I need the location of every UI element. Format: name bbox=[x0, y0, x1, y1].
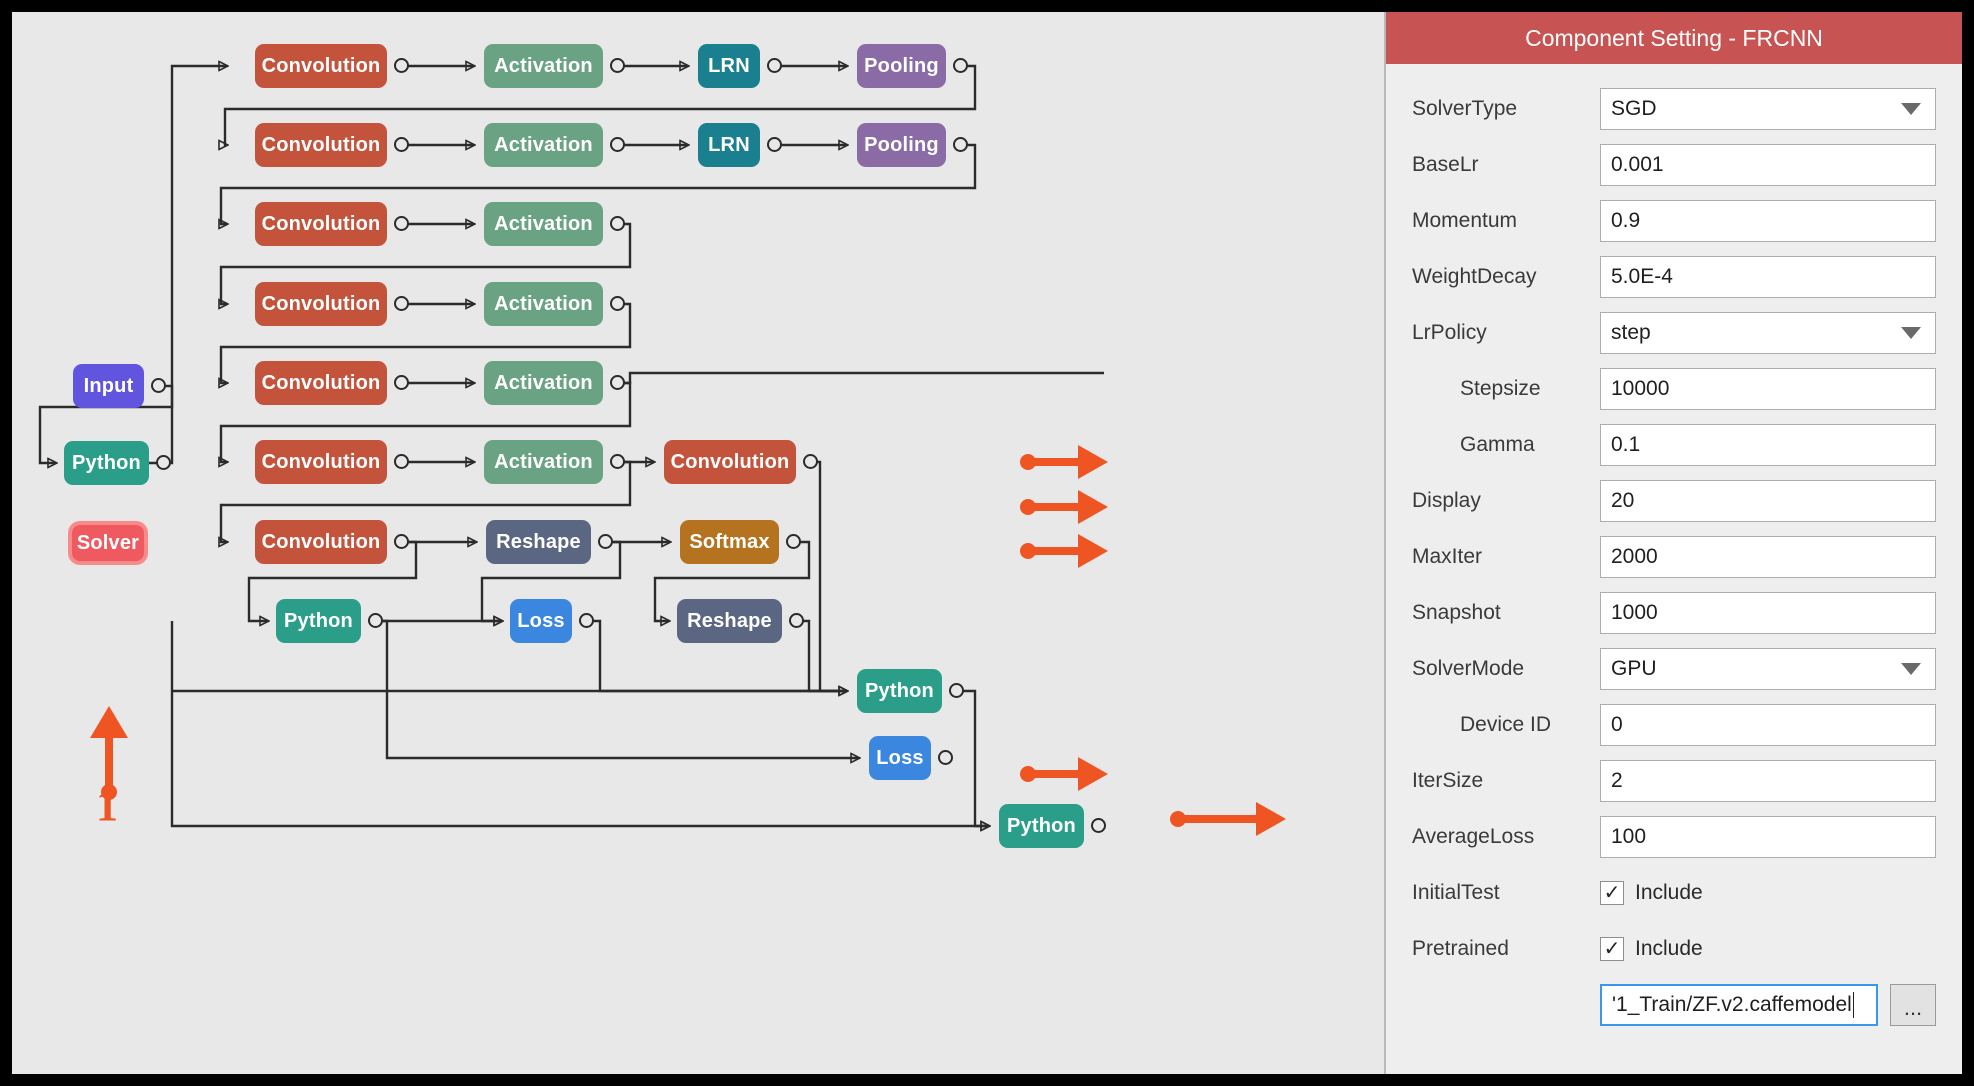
annotation-arrow-snapshot bbox=[1020, 493, 1112, 521]
node-output-port[interactable] bbox=[789, 613, 804, 628]
field-label-solvertype: SolverType bbox=[1412, 97, 1600, 121]
graph-node-convolution[interactable]: Convolution bbox=[255, 440, 387, 484]
field-row-display: Display20 bbox=[1412, 478, 1936, 523]
graph-node-reshape[interactable]: Reshape bbox=[677, 599, 782, 643]
field-label-snapshot: Snapshot bbox=[1412, 601, 1600, 625]
field-row-solvermode: SolverModeGPU bbox=[1412, 646, 1936, 691]
field-label-maxiter: MaxIter bbox=[1412, 545, 1600, 569]
graph-node-label: Python bbox=[1007, 815, 1076, 838]
select-solvermode[interactable]: GPU bbox=[1600, 648, 1936, 690]
node-output-port[interactable] bbox=[598, 534, 613, 549]
node-output-port[interactable] bbox=[949, 683, 964, 698]
select-value: GPU bbox=[1611, 657, 1657, 681]
browse-button[interactable]: ... bbox=[1890, 984, 1936, 1026]
graph-node-label: Activation bbox=[494, 372, 593, 395]
graph-node-label: Convolution bbox=[262, 134, 381, 157]
input-value: 0.001 bbox=[1611, 153, 1664, 177]
node-output-port[interactable] bbox=[767, 58, 782, 73]
graph-node-label: Convolution bbox=[262, 213, 381, 236]
graph-node-pooling[interactable]: Pooling bbox=[857, 123, 946, 167]
input-gamma[interactable]: 0.1 bbox=[1600, 424, 1936, 466]
input-baselr[interactable]: 0.001 bbox=[1600, 144, 1936, 186]
field-label-pretrained: Pretrained bbox=[1412, 937, 1600, 961]
field-row-initialtest: InitialTest✓Include bbox=[1412, 870, 1936, 915]
graph-node-label: Reshape bbox=[687, 610, 772, 633]
node-output-port[interactable] bbox=[610, 137, 625, 152]
solver-node[interactable]: Solver bbox=[68, 521, 148, 565]
graph-node-label: Pooling bbox=[864, 134, 939, 157]
panel-fields: SolverTypeSGDBaseLr0.001Momentum0.9Weigh… bbox=[1412, 86, 1936, 971]
node-output-port[interactable] bbox=[394, 296, 409, 311]
input-display[interactable]: 20 bbox=[1600, 480, 1936, 522]
chevron-down-icon bbox=[1901, 327, 1921, 339]
graph-node-convolution[interactable]: Convolution bbox=[255, 282, 387, 326]
graph-node-label: Activation bbox=[494, 134, 593, 157]
node-output-port[interactable] bbox=[394, 216, 409, 231]
graph-node-label: Activation bbox=[494, 213, 593, 236]
input-averageloss[interactable]: 100 bbox=[1600, 816, 1936, 858]
field-row-momentum: Momentum0.9 bbox=[1412, 198, 1936, 243]
input-value: 2000 bbox=[1611, 545, 1658, 569]
graph-node-convolution[interactable]: Convolution bbox=[664, 440, 796, 484]
node-output-port[interactable] bbox=[610, 296, 625, 311]
input-value: 100 bbox=[1611, 825, 1646, 849]
node-output-port[interactable] bbox=[938, 750, 953, 765]
node-output-port[interactable] bbox=[610, 216, 625, 231]
select-value: SGD bbox=[1611, 97, 1657, 121]
node-output-port[interactable] bbox=[394, 534, 409, 549]
checkbox-pretrained[interactable]: ✓Include bbox=[1600, 928, 1936, 970]
node-output-port[interactable] bbox=[953, 58, 968, 73]
graph-node-softmax[interactable]: Softmax bbox=[680, 520, 779, 564]
field-label-stepsize: Stepsize bbox=[1412, 377, 1600, 401]
input-momentum[interactable]: 0.9 bbox=[1600, 200, 1936, 242]
text-caret bbox=[1853, 992, 1854, 1018]
graph-node-label: Activation bbox=[494, 451, 593, 474]
graph-node-convolution[interactable]: Convolution bbox=[255, 361, 387, 405]
graph-node-python[interactable]: Python bbox=[999, 804, 1084, 848]
graph-node-label: Softmax bbox=[689, 531, 769, 554]
field-row-device-id: Device ID0 bbox=[1412, 702, 1936, 747]
graph-node-label: Convolution bbox=[262, 293, 381, 316]
graph-node-python[interactable]: Python bbox=[857, 669, 942, 713]
node-output-port[interactable] bbox=[610, 454, 625, 469]
graph-node-lrn[interactable]: LRN bbox=[698, 123, 760, 167]
pretrained-file-row: '1_Train/ZF.v2.caffemodel ... bbox=[1412, 982, 1936, 1027]
graph-node-python[interactable]: Python bbox=[276, 599, 361, 643]
graph-node-label: Reshape bbox=[496, 531, 581, 554]
graph-node-label: Loss bbox=[876, 747, 923, 770]
field-label-solvermode: SolverMode bbox=[1412, 657, 1600, 681]
graph-node-label: LRN bbox=[708, 55, 750, 78]
input-weightdecay[interactable]: 5.0E-4 bbox=[1600, 256, 1936, 298]
graph-node-convolution[interactable]: Convolution bbox=[255, 44, 387, 88]
graph-node-label: Activation bbox=[494, 55, 593, 78]
input-device-id[interactable]: 0 bbox=[1600, 704, 1936, 746]
input-value: 1000 bbox=[1611, 601, 1658, 625]
graph-node-convolution[interactable]: Convolution bbox=[255, 520, 387, 564]
graph-node-convolution[interactable]: Convolution bbox=[255, 123, 387, 167]
field-row-snapshot: Snapshot1000 bbox=[1412, 590, 1936, 635]
input-value: 10000 bbox=[1611, 377, 1669, 401]
checkmark-icon: ✓ bbox=[1600, 937, 1624, 961]
field-label-gamma: Gamma bbox=[1412, 433, 1600, 457]
input-value: 2 bbox=[1611, 769, 1623, 793]
graph-node-activation[interactable]: Activation bbox=[484, 440, 603, 484]
graph-node-label: LRN bbox=[708, 134, 750, 157]
graph-node-activation[interactable]: Activation bbox=[484, 282, 603, 326]
graph-node-pooling[interactable]: Pooling bbox=[857, 44, 946, 88]
node-output-port[interactable] bbox=[156, 455, 171, 470]
select-value: step bbox=[1611, 321, 1651, 345]
graph-node-label: Pooling bbox=[864, 55, 939, 78]
annotation-arrow-pretrained bbox=[1020, 760, 1112, 788]
field-label-display: Display bbox=[1412, 489, 1600, 513]
graph-node-reshape[interactable]: Reshape bbox=[486, 520, 591, 564]
graph-node-activation[interactable]: Activation bbox=[484, 202, 603, 246]
graph-node-label: Input bbox=[84, 375, 134, 398]
panel-form: SolverTypeSGDBaseLr0.001Momentum0.9Weigh… bbox=[1386, 64, 1962, 1074]
input-value: 0 bbox=[1611, 713, 1623, 737]
node-output-port[interactable] bbox=[394, 454, 409, 469]
checkbox-label: Include bbox=[1635, 881, 1703, 905]
graph-node-input[interactable]: Input bbox=[73, 364, 144, 408]
graph-node-loss[interactable]: Loss bbox=[510, 599, 572, 643]
chevron-down-icon bbox=[1901, 663, 1921, 675]
graph-node-python[interactable]: Python bbox=[64, 441, 149, 485]
field-label-itersize: IterSize bbox=[1412, 769, 1600, 793]
node-output-port[interactable] bbox=[803, 454, 818, 469]
graph-node-activation[interactable]: Activation bbox=[484, 44, 603, 88]
node-output-port[interactable] bbox=[368, 613, 383, 628]
input-value: 5.0E-4 bbox=[1611, 265, 1673, 289]
input-maxiter[interactable]: 2000 bbox=[1600, 536, 1936, 578]
field-row-pretrained: Pretrained✓Include bbox=[1412, 926, 1936, 971]
node-output-port[interactable] bbox=[151, 378, 166, 393]
graph-node-label: Python bbox=[72, 452, 141, 475]
panel-title: Component Setting - FRCNN bbox=[1386, 12, 1962, 64]
node-output-port[interactable] bbox=[394, 375, 409, 390]
node-output-port[interactable] bbox=[394, 58, 409, 73]
graph-node-label: Convolution bbox=[262, 372, 381, 395]
graph-node-label: Convolution bbox=[262, 55, 381, 78]
input-value: 0.1 bbox=[1611, 433, 1640, 457]
graph-node-label: Python bbox=[865, 680, 934, 703]
graph-node-label: Activation bbox=[494, 293, 593, 316]
graph-node-loss[interactable]: Loss bbox=[869, 736, 931, 780]
annotation-arrow-model-path bbox=[1170, 805, 1290, 833]
graph-node-label: Loss bbox=[517, 610, 564, 633]
node-output-port[interactable] bbox=[1091, 818, 1106, 833]
pretrained-model-path-value: '1_Train/ZF.v2.caffemodel bbox=[1612, 993, 1852, 1017]
input-value: 0.9 bbox=[1611, 209, 1640, 233]
field-label-momentum: Momentum bbox=[1412, 209, 1600, 233]
input-snapshot[interactable]: 1000 bbox=[1600, 592, 1936, 634]
field-label-baselr: BaseLr bbox=[1412, 153, 1600, 177]
application-window: ConvolutionActivationLRNPoolingConvoluti… bbox=[12, 12, 1962, 1074]
pretrained-model-path-input[interactable]: '1_Train/ZF.v2.caffemodel bbox=[1600, 984, 1878, 1026]
field-row-solvertype: SolverTypeSGD bbox=[1412, 86, 1936, 131]
graph-node-label: Convolution bbox=[262, 531, 381, 554]
field-row-itersize: IterSize2 bbox=[1412, 758, 1936, 803]
node-output-port[interactable] bbox=[610, 375, 625, 390]
field-row-maxiter: MaxIter2000 bbox=[1412, 534, 1936, 579]
checkbox-initialtest[interactable]: ✓Include bbox=[1600, 872, 1936, 914]
node-output-port[interactable] bbox=[579, 613, 594, 628]
field-label-initialtest: InitialTest bbox=[1412, 881, 1600, 905]
checkbox-label: Include bbox=[1635, 937, 1703, 961]
graph-node-label: Convolution bbox=[671, 451, 790, 474]
node-output-port[interactable] bbox=[786, 534, 801, 549]
field-row-baselr: BaseLr0.001 bbox=[1412, 142, 1936, 187]
field-label-lrpolicy: LrPolicy bbox=[1412, 321, 1600, 345]
chevron-down-icon bbox=[1901, 103, 1921, 115]
graph-node-lrn[interactable]: LRN bbox=[698, 44, 760, 88]
field-row-gamma: Gamma0.1 bbox=[1412, 422, 1936, 467]
input-value: 20 bbox=[1611, 489, 1634, 513]
node-output-port[interactable] bbox=[767, 137, 782, 152]
graph-node-activation[interactable]: Activation bbox=[484, 361, 603, 405]
graph-node-label: Python bbox=[284, 610, 353, 633]
node-output-port[interactable] bbox=[610, 58, 625, 73]
checkmark-icon: ✓ bbox=[1600, 881, 1624, 905]
field-row-averageloss: AverageLoss100 bbox=[1412, 814, 1936, 859]
field-label-device-id: Device ID bbox=[1412, 713, 1600, 737]
node-output-port[interactable] bbox=[394, 137, 409, 152]
node-output-port[interactable] bbox=[953, 137, 968, 152]
select-lrpolicy[interactable]: step bbox=[1600, 312, 1936, 354]
graph-node-label: Solver bbox=[77, 532, 139, 555]
annotation-step-number: 1 bbox=[96, 780, 118, 831]
field-row-stepsize: Stepsize10000 bbox=[1412, 366, 1936, 411]
graph-node-convolution[interactable]: Convolution bbox=[255, 202, 387, 246]
graph-node-label: Convolution bbox=[262, 451, 381, 474]
input-stepsize[interactable]: 10000 bbox=[1600, 368, 1936, 410]
input-itersize[interactable]: 2 bbox=[1600, 760, 1936, 802]
field-row-lrpolicy: LrPolicystep bbox=[1412, 310, 1936, 355]
network-graph-canvas[interactable]: ConvolutionActivationLRNPoolingConvoluti… bbox=[12, 12, 1384, 1074]
field-row-weightdecay: WeightDecay5.0E-4 bbox=[1412, 254, 1936, 299]
annotation-arrow-maxiter bbox=[1020, 448, 1112, 476]
field-label-weightdecay: WeightDecay bbox=[1412, 265, 1600, 289]
component-setting-panel: Component Setting - FRCNN SolverTypeSGDB… bbox=[1384, 12, 1962, 1074]
select-solvertype[interactable]: SGD bbox=[1600, 88, 1936, 130]
graph-node-activation[interactable]: Activation bbox=[484, 123, 603, 167]
field-label-averageloss: AverageLoss bbox=[1412, 825, 1600, 849]
annotation-arrow-solvermode bbox=[1020, 537, 1112, 565]
